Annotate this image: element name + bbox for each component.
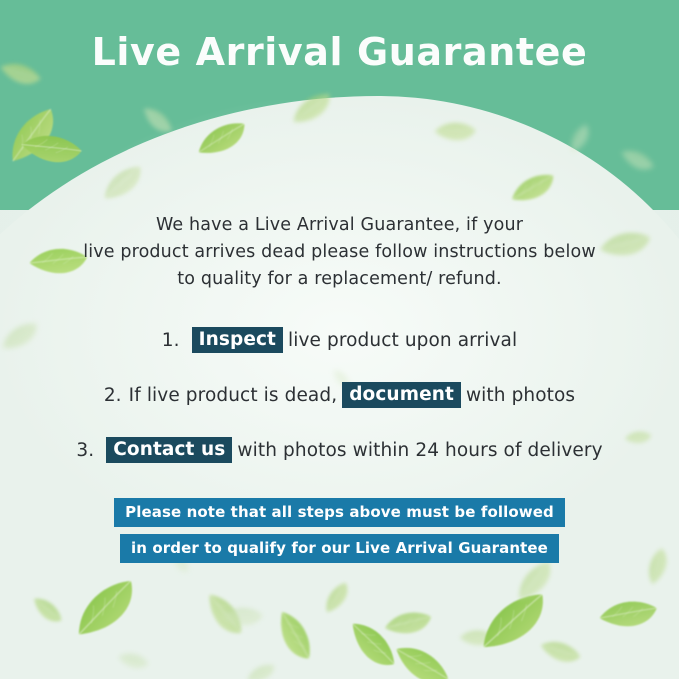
step-number-1: 1. bbox=[162, 330, 180, 351]
step-item-1: 1. Inspect live product upon arrival bbox=[0, 320, 679, 360]
note-banner-2: in order to qualify for our Live Arrival… bbox=[120, 534, 559, 563]
step-highlight-inspect: Inspect bbox=[192, 327, 283, 354]
note-banners: Please note that all steps above must be… bbox=[0, 498, 679, 570]
step-item-2: 2. If live product is dead, document wit… bbox=[0, 375, 679, 415]
step-text-1: live product upon arrival bbox=[288, 330, 517, 351]
steps-list: 1. Inspect live product upon arrival 2. … bbox=[0, 320, 679, 485]
note-row-1: Please note that all steps above must be… bbox=[0, 498, 679, 527]
step-highlight-document: document bbox=[342, 382, 461, 409]
intro-line-3: to quality for a replacement/ refund. bbox=[40, 266, 639, 293]
step-number-2: 2. bbox=[104, 385, 122, 406]
step-highlight-contact-us: Contact us bbox=[106, 437, 232, 464]
step-number-3: 3. bbox=[76, 440, 94, 461]
note-row-2: in order to qualify for our Live Arrival… bbox=[0, 534, 679, 563]
intro-line-2: live product arrives dead please follow … bbox=[40, 239, 639, 266]
note-banner-1: Please note that all steps above must be… bbox=[114, 498, 565, 527]
intro-paragraph: We have a Live Arrival Guarantee, if you… bbox=[40, 212, 639, 293]
step-text-2: with photos bbox=[466, 385, 575, 406]
step-text-3: with photos within 24 hours of delivery bbox=[237, 440, 602, 461]
live-arrival-guarantee-poster: Live Arrival Guarantee bbox=[0, 0, 679, 679]
step-pretext-2: If live product is dead, bbox=[129, 385, 338, 406]
intro-line-1: We have a Live Arrival Guarantee, if you… bbox=[40, 212, 639, 239]
step-item-3: 3. Contact us with photos within 24 hour… bbox=[0, 430, 679, 470]
